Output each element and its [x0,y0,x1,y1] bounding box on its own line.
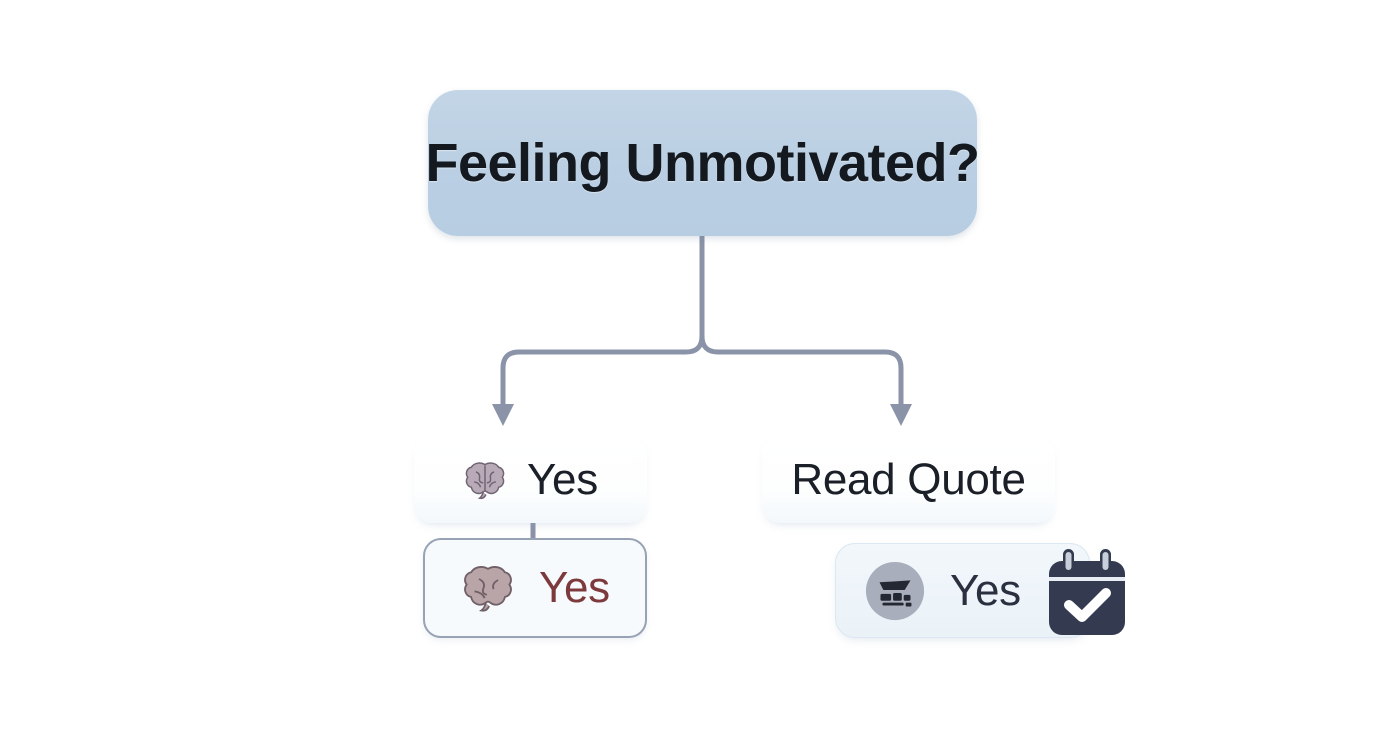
arrowhead-right [890,404,912,426]
branch-card-right[interactable]: Read Quote [762,437,1055,523]
connector-root-to-right [702,236,901,404]
brain-icon [463,460,507,500]
connector-root-to-left [503,236,702,404]
branch-label-left: Yes [527,455,598,505]
leaf-label-right: Yes [950,566,1021,616]
root-node[interactable]: Feeling Unmotivated? [428,90,977,236]
branch-label-right: Read Quote [791,455,1025,505]
leaf-card-left[interactable]: Yes [423,538,647,638]
arrowhead-left [492,404,514,426]
root-node-label: Feeling Unmotivated? [425,132,979,194]
calendar-check-icon[interactable] [1043,547,1131,639]
circle-glyph-icon [864,560,926,622]
leaf-label-left: Yes [539,563,610,613]
flowchart-canvas: Feeling Unmotivated? Yes Read Quote [0,0,1392,752]
brain-icon [461,563,515,613]
branch-card-left[interactable]: Yes [414,437,647,523]
